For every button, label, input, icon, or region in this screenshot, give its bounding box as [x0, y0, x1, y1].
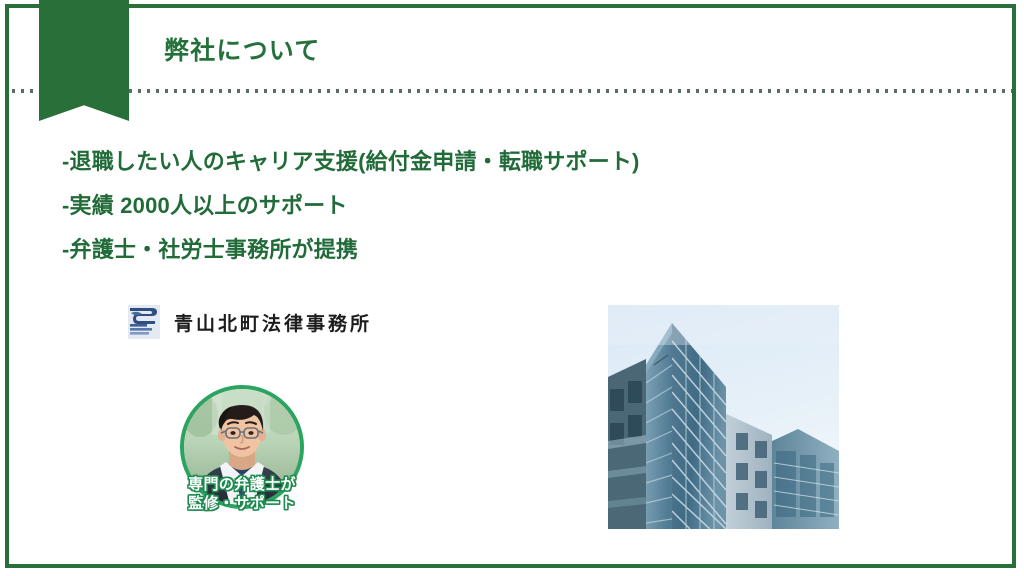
bullet-item: -実績 2000人以上のサポート: [62, 184, 762, 228]
bullet-item: -退職したい人のキャリア支援(給付金申請・転職サポート): [62, 140, 762, 184]
bookmark-ribbon-icon: [39, 0, 129, 121]
portrait-caption: 専門の弁護士が 監修・サポート: [174, 475, 310, 513]
bullet-list: -退職したい人のキャリア支援(給付金申請・転職サポート) -実績 2000人以上…: [62, 140, 762, 272]
law-firm-mark-icon: [128, 305, 160, 339]
portrait-caption-line1: 専門の弁護士が: [174, 475, 310, 494]
law-firm-logo: 青山北町法律事務所: [128, 305, 372, 339]
lawyer-portrait-block: 専門の弁護士が 監修・サポート: [180, 385, 304, 509]
portrait-caption-line2: 監修・サポート: [174, 494, 310, 513]
law-firm-name: 青山北町法律事務所: [174, 309, 372, 336]
slide-canvas: 弊社について -退職したい人のキャリア支援(給付金申請・転職サポート) -実績 …: [0, 0, 1024, 576]
header-dotted-divider: [12, 89, 1012, 93]
office-building-photo: [608, 305, 839, 529]
page-title: 弊社について: [164, 31, 320, 67]
bullet-item: -弁護士・社労士事務所が提携: [62, 228, 762, 272]
